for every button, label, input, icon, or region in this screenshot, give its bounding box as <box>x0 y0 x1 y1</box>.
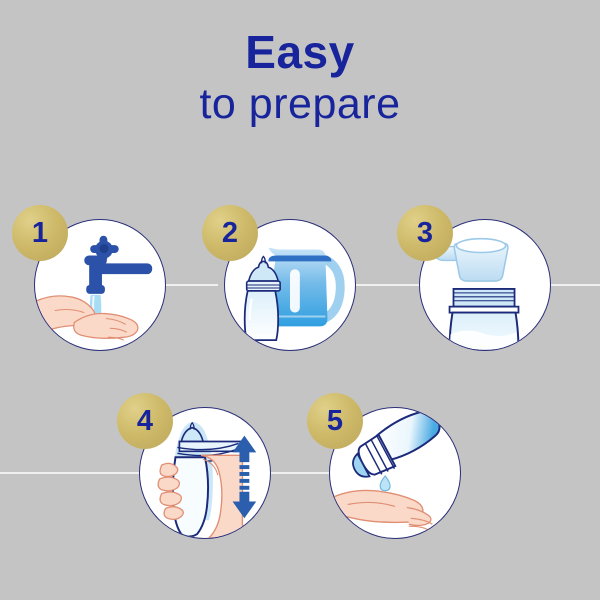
page-title: Easy to prepare <box>0 28 600 130</box>
connector-line-left-4 <box>0 472 139 474</box>
title-line-1: Easy <box>0 28 600 76</box>
step-1-badge: 1 <box>12 205 68 261</box>
infographic-stage: Easy to prepare <box>0 0 600 600</box>
connector-line-4-5 <box>271 472 329 474</box>
step-4-number: 4 <box>137 407 153 436</box>
step-5-badge: 5 <box>307 393 363 449</box>
step-1-number: 1 <box>32 219 48 248</box>
step-2-badge: 2 <box>202 205 258 261</box>
step-5[interactable]: 5 <box>329 407 461 539</box>
step-3[interactable]: 3 <box>419 219 551 351</box>
step-3-number: 3 <box>417 219 433 248</box>
title-line-2: to prepare <box>0 80 600 129</box>
step-3-badge: 3 <box>397 205 453 261</box>
connector-line-3-right <box>551 284 600 286</box>
step-5-number: 5 <box>327 407 343 436</box>
connector-line-2-3 <box>356 284 422 286</box>
step-4-badge: 4 <box>117 393 173 449</box>
step-2[interactable]: 2 <box>224 219 356 351</box>
step-1[interactable]: 1 <box>34 219 166 351</box>
step-4[interactable]: 4 <box>139 407 271 539</box>
step-2-number: 2 <box>222 219 238 248</box>
